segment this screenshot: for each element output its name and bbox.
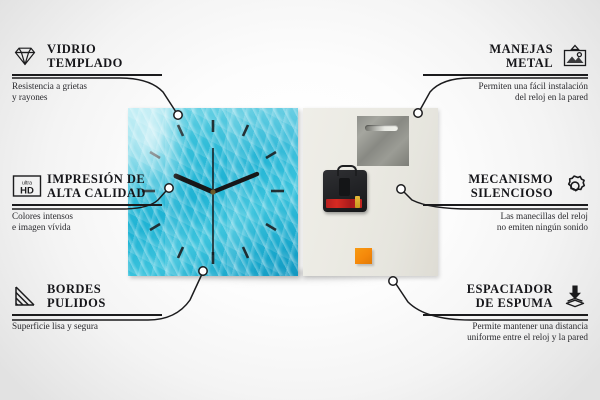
feature-subtitle: Resistencia a grietas y rayones <box>12 81 162 104</box>
feature-subtitle: Colores intensos e imagen vívida <box>12 211 162 234</box>
glass-band <box>165 108 187 276</box>
product-image <box>128 108 438 276</box>
feature-title: MECANISMO SILENCIOSO <box>468 172 553 200</box>
feature-divider <box>12 204 162 206</box>
feature-impresion-alta-calidad: ultra HD IMPRESIÓN DE ALTA CALIDAD Color… <box>12 172 162 233</box>
clock-back-plate <box>303 108 438 276</box>
clock-mechanism <box>323 170 367 212</box>
mechanism-knob <box>339 178 350 196</box>
polished-edge-icon <box>12 283 38 309</box>
feature-divider <box>423 74 588 76</box>
metal-hanger-plate <box>357 116 409 166</box>
feature-divider <box>12 314 162 316</box>
feature-title: BORDES PULIDOS <box>47 282 106 310</box>
feature-bordes-pulidos: BORDES PULIDOS Superficie lisa y segura <box>12 282 162 332</box>
infographic-canvas: VIDRIO TEMPLADO Resistencia a grietas y … <box>0 0 600 400</box>
feature-subtitle: Superficie lisa y segura <box>12 321 162 332</box>
diamond-icon <box>12 43 38 69</box>
feature-title: ESPACIADOR DE ESPUMA <box>467 282 553 310</box>
hd-label: HD <box>20 185 34 196</box>
gear-icon <box>562 173 588 199</box>
feature-divider <box>423 314 588 316</box>
feature-subtitle: Las manecillas del reloj no emiten ningú… <box>423 211 588 234</box>
feature-title: VIDRIO TEMPLADO <box>47 42 123 70</box>
feature-manejas-metal: MANEJAS METAL Permiten una fácil instala… <box>423 42 588 103</box>
feature-divider <box>12 74 162 76</box>
hanger-slot <box>365 125 398 131</box>
foam-spacer <box>355 248 372 264</box>
ultra-hd-icon: ultra HD <box>12 173 38 199</box>
feature-title: MANEJAS METAL <box>489 42 553 70</box>
layers-arrow-icon <box>562 283 588 309</box>
feature-subtitle: Permite mantener una distancia uniforme … <box>423 321 588 344</box>
battery <box>326 199 362 208</box>
feature-subtitle: Permiten una fácil instalación del reloj… <box>423 81 588 104</box>
feature-title: IMPRESIÓN DE ALTA CALIDAD <box>47 172 146 200</box>
picture-frame-icon <box>562 43 588 69</box>
mechanism-loop <box>337 165 357 176</box>
feature-mecanismo-silencioso: MECANISMO SILENCIOSO Las manecillas del … <box>423 172 588 233</box>
feature-vidrio-templado: VIDRIO TEMPLADO Resistencia a grietas y … <box>12 42 162 103</box>
feature-divider <box>423 204 588 206</box>
feature-espaciador-de-espuma: ESPACIADOR DE ESPUMA Permite mantener un… <box>423 282 588 343</box>
